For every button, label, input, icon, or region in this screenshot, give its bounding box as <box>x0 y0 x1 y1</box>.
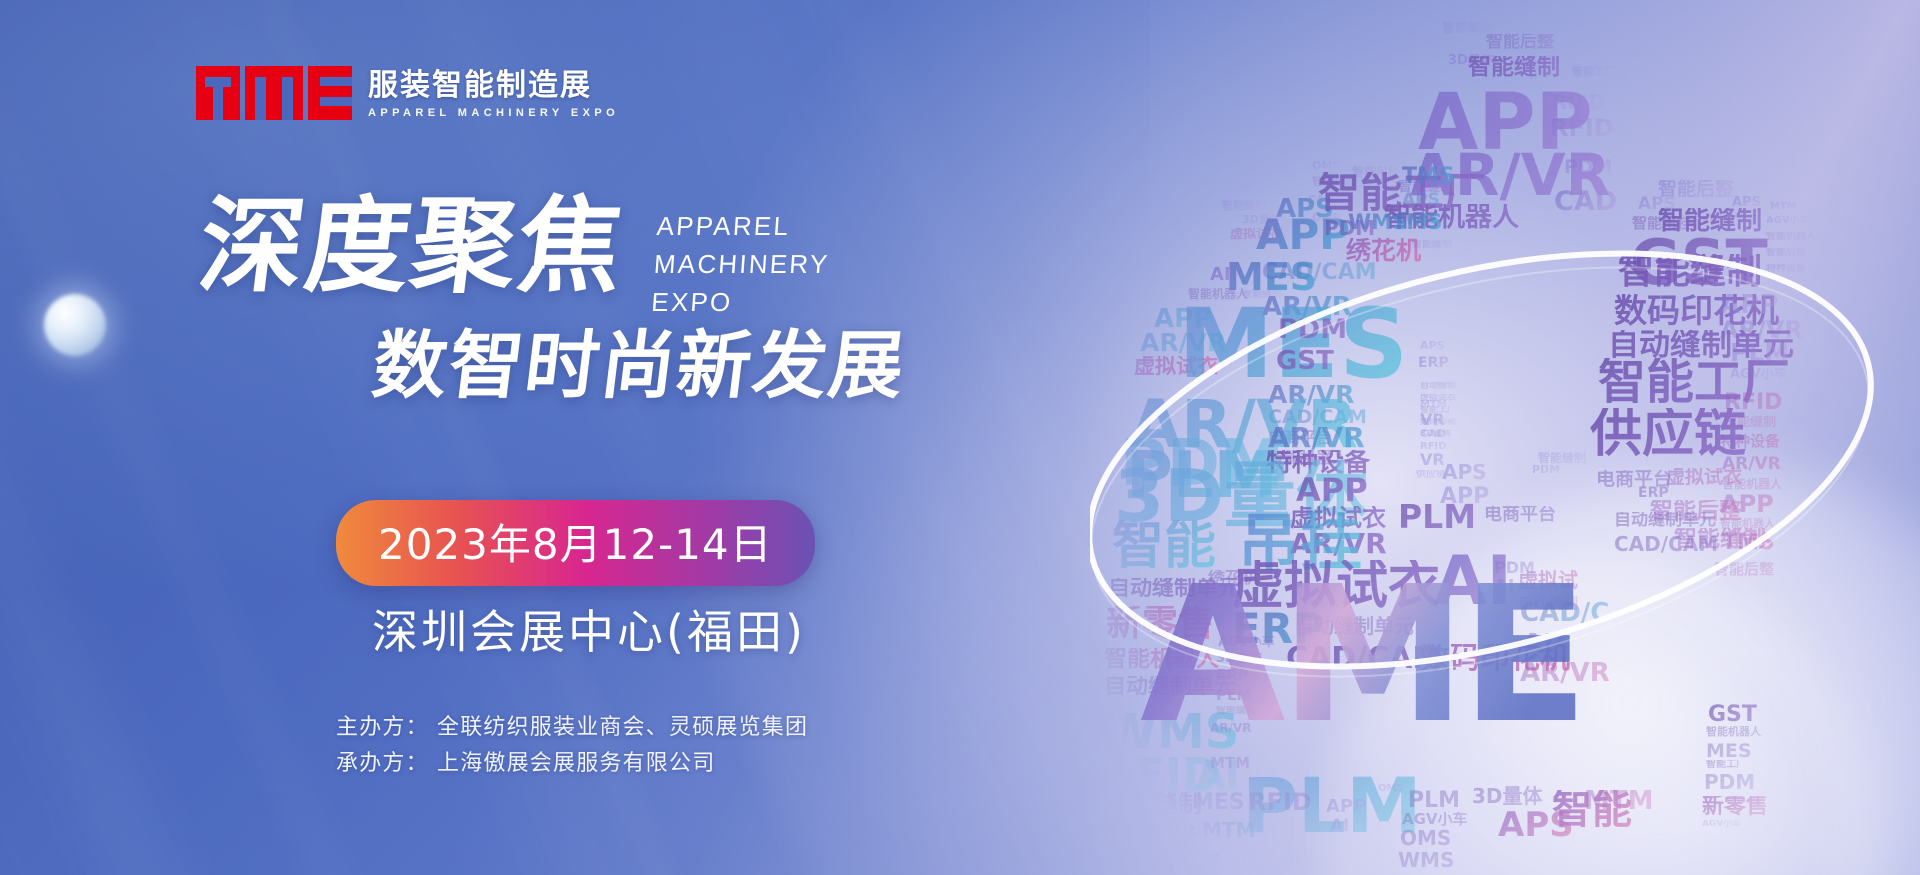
cloud-term: PDM <box>1278 316 1347 343</box>
cloud-term: 智能工厂 <box>1572 66 1616 77</box>
cloud-term: 智能缝制 <box>1618 254 1762 290</box>
cloud-term: PLM <box>1398 500 1476 533</box>
organizer-coorganizer: 承办方： 上海傲展会展服务有限公司 <box>336 746 808 782</box>
cloud-term: 电商平台 <box>1484 506 1556 524</box>
cloud-term: PDM <box>1564 158 1613 177</box>
cloud-term: 智能后整 <box>1714 562 1774 577</box>
ame-logo-icon <box>196 66 352 120</box>
cloud-term: APP <box>1326 798 1366 816</box>
event-date-badge: 2023年8月12-14日 <box>336 500 815 586</box>
logo-letter-a <box>196 66 240 120</box>
cloud-term: 3D量体 <box>1472 786 1543 806</box>
cloud-watermark-ame: AME <box>1140 546 1583 765</box>
headline-line-2: 数智时尚新发展 <box>367 306 912 413</box>
cloud-term: AGV小车 <box>1766 216 1810 226</box>
cloud-term: 智能缝制 <box>1412 240 1452 250</box>
cloud-term: 特种设备 <box>1104 824 1200 848</box>
cloud-term: MTM <box>1584 788 1653 814</box>
brand-name-block: 服装智能制造展 APPAREL MACHINERY EXPO <box>368 70 619 120</box>
cloud-term: MTM <box>1202 820 1255 840</box>
brand-name-cn: 服装智能制造展 <box>368 70 619 102</box>
cloud-term: PDM <box>1704 772 1755 792</box>
cloud-term: AGV小车 <box>1702 820 1741 829</box>
cloud-term: 绣花机 <box>1346 238 1421 263</box>
cloud-term: 智能后整 <box>1658 180 1734 199</box>
cloud-term: GST <box>1708 704 1757 726</box>
cloud-term: 供应链 <box>1590 408 1746 460</box>
cloud-term: TMS <box>1402 166 1455 188</box>
cloud-term: 数码印花机 <box>1102 852 1222 875</box>
cloud-term: OMS <box>1378 784 1404 794</box>
logo-letter-m <box>245 66 303 120</box>
word-cloud: 智能机器人 智能后整 3D量体 智能缝制 智能工厂 APP RFID RFID … <box>1090 0 1920 875</box>
cloud-term: AGV小车 <box>1402 812 1468 827</box>
cloud-term: TMS <box>1392 212 1442 233</box>
cloud-term: APP <box>1720 292 1778 318</box>
cloud-term: 智能工厂 <box>1706 760 1746 770</box>
cloud-term: 智能机器人 <box>1766 232 1816 242</box>
cloud-term: APS <box>1442 462 1487 482</box>
headline-block: 深度聚焦 APPAREL MACHINERY EXPO 数智时尚新发展 <box>200 196 906 413</box>
cloud-term: 虚拟试衣 <box>1666 468 1742 487</box>
cloud-term: OMS <box>1400 828 1451 848</box>
cloud-term: 智能后整 <box>1486 34 1554 51</box>
event-date-text: 2023年8月12-14日 <box>378 520 773 569</box>
cloud-term: 智能后整 <box>1766 248 1806 258</box>
cloud-term: RFID <box>1552 92 1605 112</box>
logo-letter-e <box>308 66 352 120</box>
cloud-term: CAD/CAM <box>1614 534 1718 554</box>
cloud-term: ERP <box>1418 356 1449 370</box>
organizer-host: 主办方： 全联纺织服装业商会、灵硕展览集团 <box>336 710 808 746</box>
cloud-term: AI <box>1330 818 1349 835</box>
cloud-term: MTM <box>1770 202 1797 212</box>
cloud-term: PDM <box>1532 464 1560 475</box>
cloud-term: 特种设备 <box>1766 264 1806 274</box>
cloud-term: CAD <box>1420 428 1446 439</box>
cloud-term: APP <box>1296 474 1368 506</box>
cloud-term: 智能缝制 <box>1106 792 1202 816</box>
cloud-term: 智能机器人 <box>1706 726 1761 737</box>
cloud-term: APS <box>1402 192 1440 209</box>
organizer-block: 主办方： 全联纺织服装业商会、灵硕展览集团 承办方： 上海傲展会展服务有限公司 <box>336 710 808 781</box>
cloud-term: APS <box>1420 340 1445 351</box>
headline-row-1: 深度聚焦 APPAREL MACHINERY EXPO <box>200 196 906 322</box>
cloud-term: GST <box>1276 348 1334 374</box>
cloud-term: 智能缝制 <box>1468 56 1560 79</box>
cloud-term: CAD <box>1554 188 1617 215</box>
headline-english: APPAREL MACHINERY EXPO <box>650 208 833 322</box>
cloud-term: 自动缝制 <box>1420 382 1456 391</box>
cloud-term: CAD/CAM <box>1262 262 1377 284</box>
brand-name-en: APPAREL MACHINERY EXPO <box>368 107 619 119</box>
cloud-term: APS <box>1732 196 1761 209</box>
cloud-term: WMS <box>1398 850 1454 870</box>
cloud-term: MTM <box>1420 400 1447 410</box>
cloud-term: VR <box>1420 452 1445 468</box>
cloud-term: RFID <box>1550 116 1614 140</box>
cloud-term: VR <box>1420 412 1445 428</box>
cloud-term: 新零售 <box>1702 796 1768 818</box>
event-venue: 深圳会展中心(福田) <box>372 596 806 662</box>
bubble-decoration <box>44 294 106 356</box>
headline-line-1: 深度聚焦 <box>194 196 631 298</box>
brand-logo: 服装智能制造展 APPAREL MACHINERY EXPO <box>196 66 619 120</box>
cloud-term: RFID <box>1248 790 1312 814</box>
cloud-term: PLM <box>1408 790 1460 812</box>
promo-banner: 智能机器人 智能后整 3D量体 智能缝制 智能工厂 APP RFID RFID … <box>0 0 1920 875</box>
cloud-term: MES <box>1192 792 1245 814</box>
